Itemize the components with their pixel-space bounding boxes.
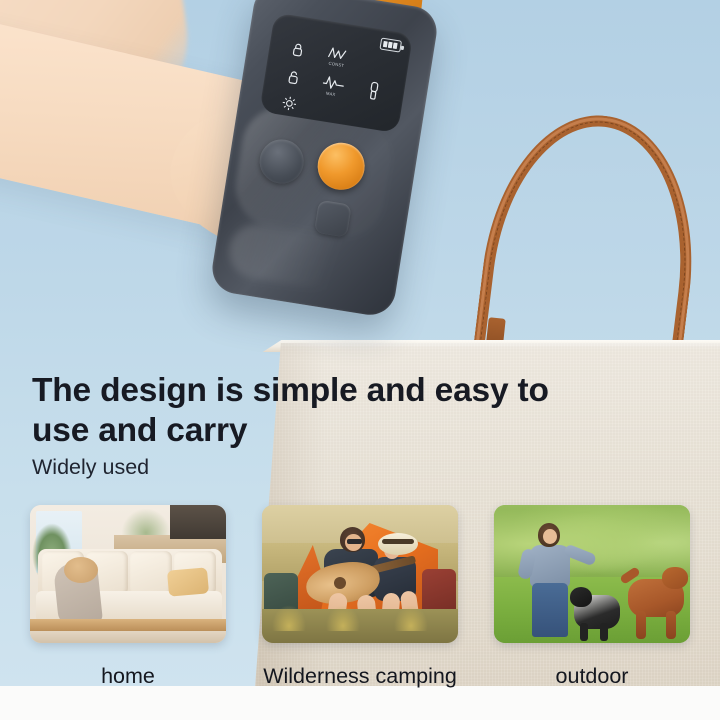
grass-tuft xyxy=(272,605,306,631)
pulse-icon-label: MAX xyxy=(326,91,336,97)
usecase-caption-row: home Wilderness camping outdoor xyxy=(0,664,720,704)
caption-home: home xyxy=(30,664,226,689)
mode-square-button[interactable] xyxy=(314,200,352,238)
room-floor xyxy=(30,631,226,643)
accent-pillow xyxy=(167,567,209,596)
dog-leg xyxy=(600,623,608,641)
dog-leg xyxy=(636,611,646,639)
battery-icon xyxy=(379,38,402,53)
sunglasses-icon xyxy=(347,539,362,544)
lock-icon xyxy=(290,42,305,59)
kitchen-cabinet xyxy=(170,505,226,539)
woman-jeans xyxy=(532,583,568,637)
dog-leg xyxy=(666,611,676,639)
grass-tuft xyxy=(326,605,360,631)
handle-stitching xyxy=(477,110,703,355)
usecase-thumbnail-home[interactable] xyxy=(30,505,226,643)
brightness-icon xyxy=(281,95,298,112)
usecase-thumbnail-row xyxy=(30,505,690,645)
bag-handle xyxy=(468,105,718,355)
guitar-soundhole xyxy=(334,577,346,589)
border-collie-head xyxy=(570,587,592,607)
page-title: The design is simple and easy to use and… xyxy=(32,371,562,451)
caption-camping: Wilderness camping xyxy=(262,664,458,689)
sun-hat xyxy=(378,533,418,555)
brown-dog-head xyxy=(662,567,688,589)
usecase-thumbnail-outdoor[interactable] xyxy=(494,505,690,643)
sofa-wood-base xyxy=(30,619,226,631)
grass-tuft xyxy=(394,605,428,631)
caption-outdoor: outdoor xyxy=(494,664,690,689)
woman-face xyxy=(543,529,557,544)
sofa-cushion xyxy=(130,551,172,595)
round-pillow xyxy=(64,557,98,583)
pulse-icon xyxy=(321,74,345,93)
waveform-icon-label: CONST xyxy=(328,61,344,68)
flashlight-icon xyxy=(366,80,381,102)
dog-leg xyxy=(580,623,588,641)
unlock-icon xyxy=(286,69,301,86)
hat-band xyxy=(382,539,414,544)
page-subtitle: Widely used xyxy=(32,455,149,480)
usecase-thumbnail-camping[interactable] xyxy=(262,505,458,643)
marketing-banner: CONST MAX xyxy=(0,0,720,720)
device-screen-panel: CONST MAX xyxy=(259,13,413,134)
